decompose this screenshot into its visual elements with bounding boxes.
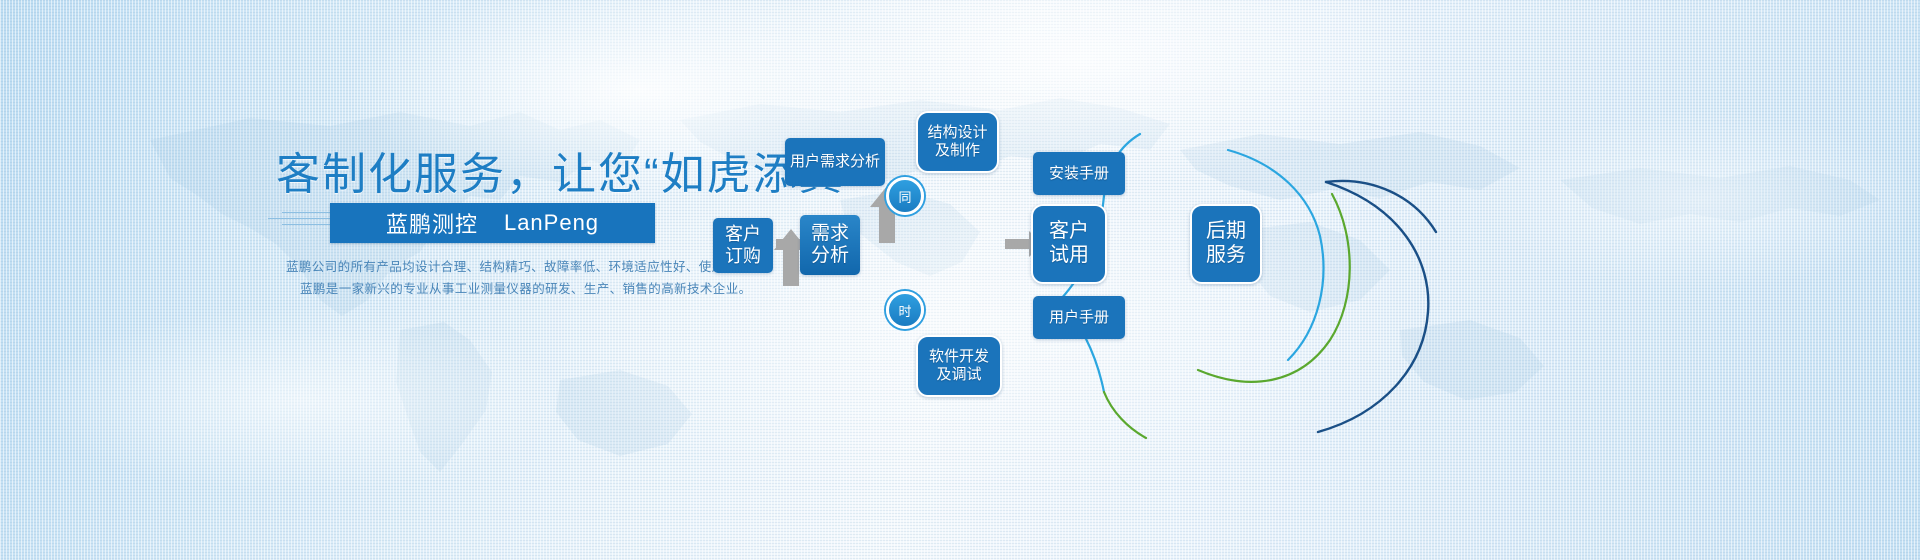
node-user-manual[interactable]: 用户手册 [1033, 296, 1125, 339]
node-label: 结构设计 及制作 [927, 124, 987, 159]
node-label: 软件开发 及调试 [929, 348, 989, 383]
badge-time-icon: 时 [886, 291, 924, 329]
badge-label: 同 [898, 187, 911, 206]
node-installation-manual[interactable]: 安装手册 [1033, 152, 1125, 195]
node-label: 用户手册 [1049, 309, 1109, 327]
node-label: 安装手册 [1049, 165, 1109, 183]
node-label: 客户 订购 [725, 224, 761, 266]
node-label: 客户 试用 [1049, 220, 1089, 267]
process-flow-diagram: 用户需求分析 客户 订购 需求 分析 结构设计 及制作 软件开发 及调试 安装手… [0, 0, 1920, 560]
node-software-development[interactable]: 软件开发 及调试 [916, 335, 1002, 397]
node-customer-trial[interactable]: 客户 试用 [1031, 204, 1107, 284]
node-label: 用户需求分析 [790, 153, 880, 171]
node-label: 需求 分析 [811, 223, 849, 268]
node-label: 后期 服务 [1206, 220, 1246, 267]
node-user-requirement-analysis[interactable]: 用户需求分析 [785, 138, 885, 186]
badge-same-icon: 同 [886, 177, 924, 215]
node-requirement-analysis[interactable]: 需求 分析 [800, 215, 860, 275]
node-after-sales-service[interactable]: 后期 服务 [1190, 204, 1262, 284]
node-structural-design[interactable]: 结构设计 及制作 [916, 111, 999, 173]
flow-connectors [0, 0, 1920, 560]
node-customer-order[interactable]: 客户 订购 [713, 218, 773, 273]
badge-label: 时 [898, 301, 911, 320]
banner-root: 客制化服务，让您“如虎添翼” 蓝鹏测控 LanPeng 蓝鹏公司的所有产品均设计… [0, 0, 1920, 560]
